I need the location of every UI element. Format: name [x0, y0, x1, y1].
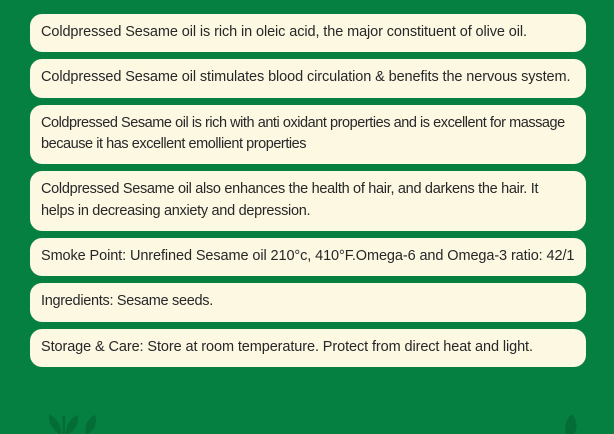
sesame-leaf-decoration: [0, 404, 614, 434]
info-card-storage-care: Storage & Care: Store at room temperatur…: [30, 329, 586, 367]
info-card-text: Coldpressed Sesame oil stimulates blood …: [41, 67, 575, 88]
leaf-icon: [565, 414, 576, 434]
info-card-text: Coldpressed Sesame oil is rich in oleic …: [41, 22, 575, 43]
leaf-icon: [66, 415, 78, 434]
leaf-group-left: [49, 414, 96, 434]
info-card-blood-circulation: Coldpressed Sesame oil stimulates blood …: [30, 59, 586, 97]
info-card-hair-health: Coldpressed Sesame oil also enhances the…: [30, 171, 586, 231]
leaf-group-right: [565, 414, 576, 434]
info-card-text: Storage & Care: Store at room temperatur…: [41, 337, 575, 358]
info-card-list: Coldpressed Sesame oil is rich in oleic …: [30, 14, 586, 367]
info-card-ingredients: Ingredients: Sesame seeds.: [30, 283, 586, 321]
info-card-text: Ingredients: Sesame seeds.: [41, 291, 575, 312]
info-card-smoke-point: Smoke Point: Unrefined Sesame oil 210°c,…: [30, 238, 586, 276]
info-card-anti-oxidant-massage: Coldpressed Sesame oil is rich with anti…: [30, 105, 586, 165]
product-details-panel: Coldpressed Sesame oil is rich in oleic …: [0, 0, 614, 434]
leaf-icon: [85, 415, 96, 434]
leaf-icon: [49, 414, 61, 434]
info-card-oleic-acid: Coldpressed Sesame oil is rich in oleic …: [30, 14, 586, 52]
stem: [63, 416, 66, 434]
info-card-text: Coldpressed Sesame oil is rich with anti…: [41, 113, 575, 156]
stem: [571, 418, 573, 434]
info-card-text: Coldpressed Sesame oil also enhances the…: [41, 179, 575, 222]
info-card-text: Smoke Point: Unrefined Sesame oil 210°c,…: [41, 246, 575, 267]
